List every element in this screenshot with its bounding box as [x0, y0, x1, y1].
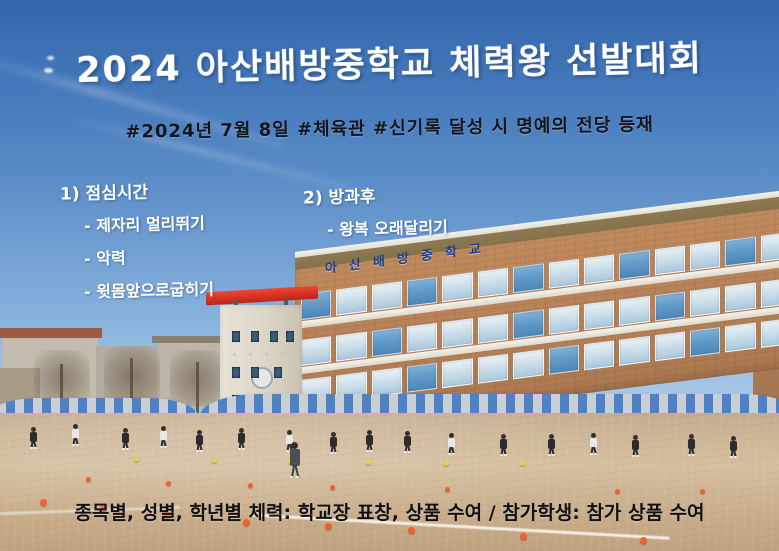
tower-window	[274, 367, 282, 378]
schedule-lunch-item: - 윗몸앞으로굽히기	[84, 276, 214, 303]
field-cone-yellow	[212, 458, 217, 463]
student-runner	[72, 424, 79, 446]
student-runner	[448, 433, 455, 455]
student-runner	[238, 428, 245, 450]
field-cone	[86, 477, 91, 482]
field-cone	[615, 489, 620, 494]
bottom-caption: 종목별, 성별, 학년별 체력: 학교장 표창, 상품 수여 / 참가학생: 참…	[0, 498, 779, 525]
sign-char: 산	[349, 253, 363, 274]
schedule-lunch-item: - 제자리 멀리뛰기	[84, 210, 214, 237]
student-runner	[590, 433, 597, 455]
field-cone	[700, 489, 705, 494]
schedule-lunch-item: - 악력	[84, 243, 214, 270]
schedule-afterschool-item: - 왕복 오래달리기	[327, 214, 448, 241]
tower-window	[232, 331, 240, 342]
tower-red-canopy	[206, 286, 318, 306]
field-cone	[166, 481, 171, 486]
field-cone-yellow	[444, 461, 449, 466]
field-cone	[408, 527, 415, 534]
student-runner	[632, 435, 639, 457]
field-cone	[640, 537, 647, 544]
field-cone-yellow	[134, 457, 139, 462]
tower-star-ornament	[264, 352, 269, 357]
student-runner	[548, 434, 555, 456]
field-cone	[248, 483, 253, 488]
ground-texture	[0, 413, 779, 551]
sign-char: 아	[325, 256, 339, 277]
school-building: 아 산 배 방 중 학 교	[255, 228, 779, 418]
student-runner	[500, 434, 507, 456]
tower-star-ornament	[248, 352, 253, 357]
student-runner	[122, 428, 129, 450]
student-runner	[730, 436, 737, 458]
field-cone	[445, 487, 450, 492]
background-roof	[0, 328, 102, 338]
field-cone	[330, 485, 335, 490]
tower-star-ornament	[280, 352, 285, 357]
school-field-ground	[0, 413, 779, 551]
student-runner	[366, 430, 373, 452]
tower-window	[232, 367, 240, 378]
tower-star-ornament	[232, 352, 237, 357]
schedule-lunch-block: 1) 점심시간 - 제자리 멀리뛰기 - 악력 - 윗몸앞으로굽히기	[60, 178, 214, 310]
student-runner	[30, 427, 37, 449]
field-cone-yellow	[520, 461, 525, 466]
student-runner	[330, 432, 337, 454]
tower-window	[251, 367, 259, 378]
poster-image: 아 산 배 방 중 학 교	[0, 0, 779, 551]
tower-window	[286, 331, 294, 342]
sign-char: 배	[373, 250, 387, 271]
schedule-afterschool-heading: 2) 방과후	[303, 180, 448, 208]
tower-window	[270, 331, 278, 342]
student-runner	[404, 431, 411, 453]
teacher-supervisor	[290, 442, 300, 478]
student-runner	[688, 434, 695, 456]
sign-char: 방	[397, 247, 411, 268]
schedule-afterschool-block: 2) 방과후 - 왕복 오래달리기	[303, 182, 448, 248]
student-runner	[196, 430, 203, 452]
student-runner	[160, 426, 167, 448]
sign-char: 교	[469, 238, 483, 259]
field-cone-yellow	[366, 460, 371, 465]
tower-window	[251, 331, 259, 342]
field-cone	[520, 533, 527, 540]
schedule-lunch-heading: 1) 점심시간	[60, 176, 214, 204]
